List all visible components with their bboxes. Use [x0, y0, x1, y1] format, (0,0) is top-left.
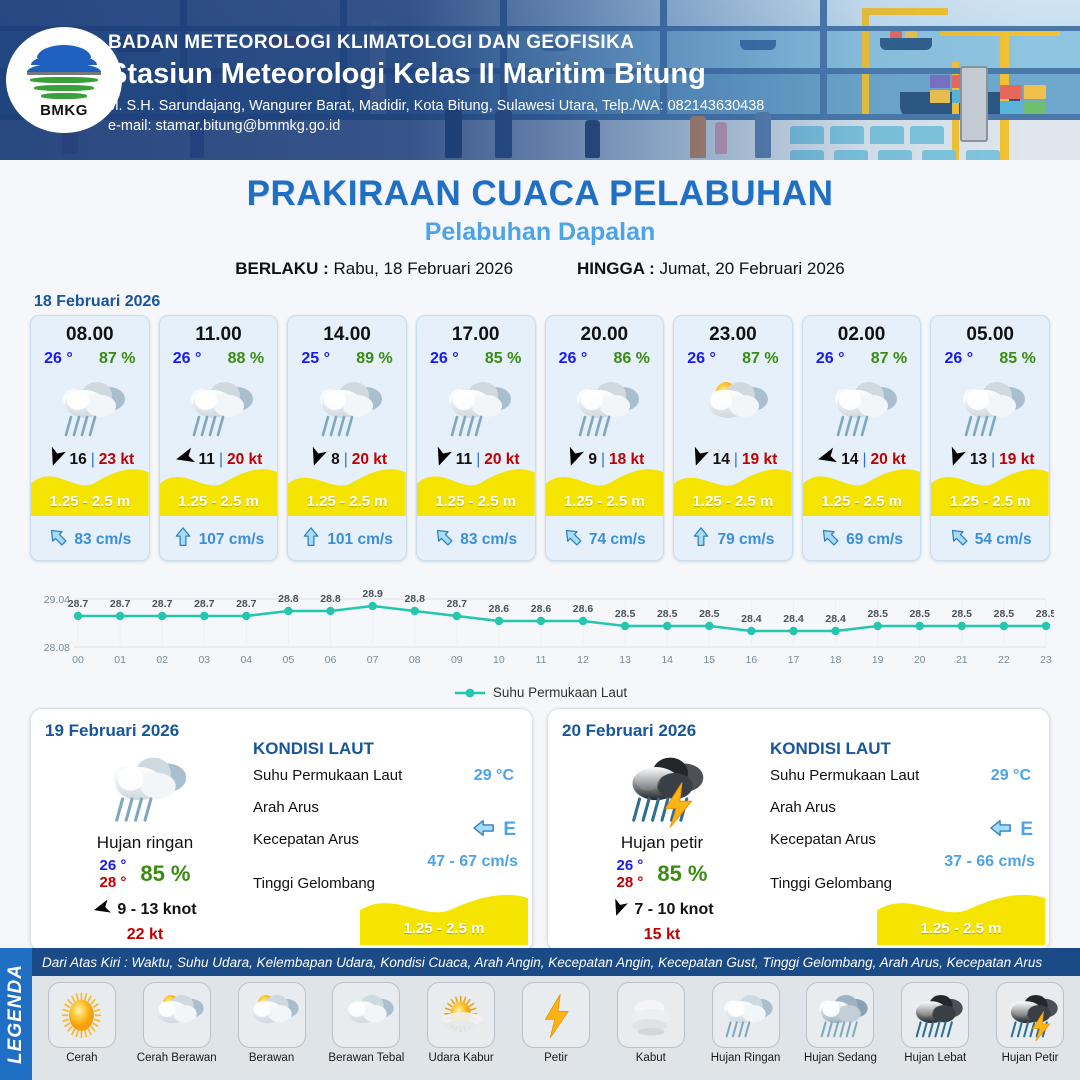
- valid-from-value: Rabu, 18 Februari 2026: [333, 259, 513, 278]
- legend-icon-cerah-berawan: [143, 982, 211, 1048]
- daily-wind-value: 7 - 10 knot: [634, 901, 713, 919]
- daily-temps: 26 ° 28 ° 85 %: [45, 857, 245, 892]
- current-speed-label: Kecepatan Arus: [770, 831, 876, 848]
- svg-text:03: 03: [198, 654, 210, 666]
- forecast-card: 11.00 26 ° 88 % 11 | 20 kt 1.25 - 2.5 m …: [159, 315, 279, 561]
- card-current-speed: 74 cm/s: [589, 531, 646, 549]
- forecast-card: 20.00 26 ° 86 % 9 | 18 kt 1.25 - 2.5 m 7…: [545, 315, 665, 561]
- daily-gust: 15 kt: [562, 926, 762, 944]
- svg-text:29.04: 29.04: [44, 594, 70, 606]
- card-time: 14.00: [323, 324, 371, 346]
- legend-item: Cerah Berawan: [131, 982, 223, 1078]
- svg-text:21: 21: [956, 654, 968, 666]
- sst-row: Suhu Permukaan Laut 29 °C: [770, 767, 1037, 799]
- hourly-forecast-cards: 08.00 26 ° 87 % 16 | 23 kt 1.25 - 2.5 m …: [0, 315, 1080, 561]
- svg-text:28.5: 28.5: [1036, 608, 1054, 620]
- svg-text:07: 07: [367, 654, 379, 666]
- card-values: 26 ° 85 %: [417, 350, 535, 368]
- bmkg-logo-text: BMKG: [40, 102, 88, 119]
- daily-condition: Hujan ringan: [45, 833, 245, 853]
- legend-section: LEGENDA Dari Atas Kiri : Waktu, Suhu Uda…: [0, 948, 1080, 1080]
- legend-item-label: Udara Kabur: [429, 1052, 494, 1064]
- card-temperature: 26 °: [945, 350, 974, 368]
- card-humidity: 88 %: [228, 350, 264, 368]
- station-name: Stasiun Meteorologi Kelas II Maritim Bit…: [108, 58, 764, 91]
- card-time: 23.00: [709, 324, 757, 346]
- card-weather-icon: [674, 371, 792, 445]
- svg-text:28.5: 28.5: [699, 608, 720, 620]
- current-speed-value: 37 - 66 cm/s: [944, 853, 1035, 871]
- legend-item-label: Kabut: [636, 1052, 666, 1064]
- card-humidity: 87 %: [99, 350, 135, 368]
- current-direction-arrow-icon: [48, 527, 68, 552]
- valid-to-label: HINGGA :: [577, 259, 655, 278]
- legend-item-label: Hujan Petir: [1002, 1052, 1059, 1064]
- card-temperature: 26 °: [816, 350, 845, 368]
- current-direction-arrow-icon: [691, 527, 711, 552]
- daily-date: 20 Februari 2026: [562, 721, 1035, 741]
- svg-text:04: 04: [240, 654, 252, 666]
- card-temperature: 26 °: [44, 350, 73, 368]
- card-weather-icon: [288, 371, 406, 445]
- legend-icon-hujan-petir: [996, 982, 1064, 1048]
- svg-text:28.6: 28.6: [489, 603, 510, 615]
- wave-height-label: Tinggi Gelombang: [253, 875, 375, 892]
- forecast-card: 02.00 26 ° 87 % 14 | 20 kt 1.25 - 2.5 m …: [802, 315, 922, 561]
- card-values: 26 ° 86 %: [546, 350, 664, 368]
- daily-temp-min: 26 °: [616, 857, 643, 874]
- current-direction-row: Arah Arus E: [253, 799, 520, 831]
- daily-wind: 9 - 13 knot: [45, 899, 245, 922]
- svg-text:02: 02: [156, 654, 168, 666]
- forecast-card: 08.00 26 ° 87 % 16 | 23 kt 1.25 - 2.5 m …: [30, 315, 150, 561]
- card-current-speed: 101 cm/s: [327, 531, 393, 549]
- svg-text:28.8: 28.8: [278, 593, 299, 605]
- svg-text:18: 18: [830, 654, 842, 666]
- legend-item-label: Berawan: [249, 1052, 294, 1064]
- card-wave-height: 1.25 - 2.5 m: [546, 493, 664, 510]
- sst-value: 29 °C: [991, 767, 1031, 785]
- chart-legend: Suhu Permukaan Laut: [0, 685, 1080, 700]
- card-current: 83 cm/s: [31, 527, 149, 552]
- card-weather-icon: [546, 371, 664, 445]
- agency-name: BADAN METEOROLOGI KLIMATOLOGI DAN GEOFIS…: [108, 32, 764, 54]
- legend-icon-hujan-sedang: [806, 982, 874, 1048]
- valid-from: BERLAKU : Rabu, 18 Februari 2026: [235, 259, 513, 279]
- svg-text:01: 01: [114, 654, 126, 666]
- daily-temp-range: 26 ° 28 °: [616, 857, 643, 892]
- svg-text:28.5: 28.5: [657, 608, 678, 620]
- svg-text:28.4: 28.4: [783, 613, 804, 625]
- card-temperature: 26 °: [687, 350, 716, 368]
- card-wave-height: 1.25 - 2.5 m: [417, 493, 535, 510]
- card-wave-height: 1.25 - 2.5 m: [31, 493, 149, 510]
- card-weather-icon: [803, 371, 921, 445]
- daily-humidity: 85 %: [657, 861, 707, 887]
- daily-wind-value: 9 - 13 knot: [117, 901, 196, 919]
- legend-item: Hujan Lebat: [889, 982, 981, 1078]
- current-direction-arrow-icon: [949, 527, 969, 552]
- card-humidity: 87 %: [742, 350, 778, 368]
- legend-item-label: Cerah Berawan: [137, 1052, 217, 1064]
- daily-humidity: 85 %: [140, 861, 190, 887]
- card-temperature: 25 °: [301, 350, 330, 368]
- legend-item-label: Hujan Lebat: [904, 1052, 966, 1064]
- card-current: 79 cm/s: [674, 527, 792, 552]
- card-humidity: 89 %: [356, 350, 392, 368]
- daily-temp-range: 26 ° 28 °: [99, 857, 126, 892]
- svg-text:05: 05: [283, 654, 295, 666]
- svg-text:28.8: 28.8: [404, 593, 425, 605]
- card-wave-height: 1.25 - 2.5 m: [931, 493, 1049, 510]
- card-time: 02.00: [838, 324, 886, 346]
- svg-text:28.5: 28.5: [615, 608, 636, 620]
- svg-text:28.5: 28.5: [867, 608, 888, 620]
- card-values: 26 ° 87 %: [674, 350, 792, 368]
- forecast-card: 05.00 26 ° 85 % 13 | 19 kt 1.25 - 2.5 m …: [930, 315, 1050, 561]
- daily-gust: 22 kt: [45, 926, 245, 944]
- card-wave-height: 1.25 - 2.5 m: [160, 493, 278, 510]
- legend-item-label: Cerah: [66, 1052, 97, 1064]
- card-current-speed: 69 cm/s: [846, 531, 903, 549]
- daily-forecast-panels: 19 Februari 2026 Hujan ringan 26 ° 28 ° …: [0, 700, 1080, 952]
- chart-legend-marker-icon: [453, 687, 487, 699]
- card-current-speed: 54 cm/s: [975, 531, 1032, 549]
- legend-icon-berawan-tebal: [332, 982, 400, 1048]
- current-direction-arrow-icon: [820, 527, 840, 552]
- daily-sea-conditions: KONDISI LAUT Suhu Permukaan Laut 29 °C A…: [770, 739, 1037, 907]
- card-values: 26 ° 87 %: [31, 350, 149, 368]
- page-title-block: PRAKIRAAN CUACA PELABUHAN Pelabuhan Dapa…: [0, 174, 1080, 279]
- card-time: 08.00: [66, 324, 114, 346]
- card-weather-icon: [417, 371, 535, 445]
- page-subtitle: Pelabuhan Dapalan: [0, 218, 1080, 247]
- current-direction-row: Arah Arus E: [770, 799, 1037, 831]
- card-values: 26 ° 85 %: [931, 350, 1049, 368]
- card-values: 26 ° 87 %: [803, 350, 921, 368]
- svg-text:28.4: 28.4: [741, 613, 762, 625]
- svg-text:20: 20: [914, 654, 926, 666]
- forecast-card: 14.00 25 ° 89 % 8 | 20 kt 1.25 - 2.5 m 1…: [287, 315, 407, 561]
- sea-conditions-title: KONDISI LAUT: [253, 739, 520, 759]
- svg-text:28.7: 28.7: [152, 598, 173, 610]
- card-weather-icon: [931, 371, 1049, 445]
- valid-to: HINGGA : Jumat, 20 Februari 2026: [577, 259, 845, 279]
- daily-wind-arrow-icon: [610, 899, 628, 922]
- legend-item-label: Hujan Ringan: [711, 1052, 781, 1064]
- legend-item: Berawan Tebal: [320, 982, 412, 1078]
- current-direction-arrow-icon: [173, 527, 193, 552]
- svg-text:06: 06: [325, 654, 337, 666]
- card-temperature: 26 °: [559, 350, 588, 368]
- card-current: 101 cm/s: [288, 527, 406, 552]
- current-direction-label: Arah Arus: [253, 799, 319, 816]
- card-temperature: 26 °: [173, 350, 202, 368]
- sst-value: 29 °C: [474, 767, 514, 785]
- daily-left: Hujan ringan 26 ° 28 ° 85 % 9 - 13 knot …: [45, 745, 245, 944]
- svg-text:15: 15: [703, 654, 715, 666]
- daily-weather-icon: [562, 745, 762, 831]
- daily-condition: Hujan petir: [562, 833, 762, 853]
- legend-item: Udara Kabur: [415, 982, 507, 1078]
- card-time: 17.00: [452, 324, 500, 346]
- station-email: e-mail: stamar.bitung@bmmkg.go.id: [108, 118, 764, 134]
- legend-item-label: Berawan Tebal: [328, 1052, 404, 1064]
- daily-temp-max: 28 °: [99, 874, 126, 891]
- svg-text:28.5: 28.5: [909, 608, 930, 620]
- svg-text:28.5: 28.5: [994, 608, 1015, 620]
- legend-items: Cerah Cerah Berawan Berawan Berawan Teba…: [32, 976, 1080, 1080]
- card-current: 83 cm/s: [417, 527, 535, 552]
- current-direction-arrow-icon: [563, 527, 583, 552]
- daily-date: 19 Februari 2026: [45, 721, 518, 741]
- legend-icon-kabut: [617, 982, 685, 1048]
- sst-row: Suhu Permukaan Laut 29 °C: [253, 767, 520, 799]
- valid-to-value: Jumat, 20 Februari 2026: [660, 259, 845, 278]
- svg-text:28.7: 28.7: [194, 598, 215, 610]
- svg-text:28.4: 28.4: [825, 613, 846, 625]
- legend-icon-hujan-lebat: [901, 982, 969, 1048]
- svg-text:19: 19: [872, 654, 884, 666]
- forecast-date-label: 18 Februari 2026: [34, 293, 1080, 311]
- svg-text:28.5: 28.5: [952, 608, 973, 620]
- legend-icon-udara-kabur: [427, 982, 495, 1048]
- legend-icon-cerah: [48, 982, 116, 1048]
- page-header: BMKG BADAN METEOROLOGI KLIMATOLOGI DAN G…: [0, 0, 1080, 160]
- daily-forecast-panel: 20 Februari 2026 Hujan petir 26 ° 28 ° 8…: [547, 708, 1050, 952]
- valid-from-label: BERLAKU :: [235, 259, 329, 278]
- legend-item-label: Hujan Sedang: [804, 1052, 877, 1064]
- svg-text:10: 10: [493, 654, 505, 666]
- card-wave-height: 1.25 - 2.5 m: [288, 493, 406, 510]
- svg-text:23: 23: [1040, 654, 1052, 666]
- svg-text:28.6: 28.6: [531, 603, 552, 615]
- svg-text:28.7: 28.7: [447, 598, 468, 610]
- card-values: 26 ° 88 %: [160, 350, 278, 368]
- card-weather-icon: [160, 371, 278, 445]
- legend-icon-petir: [522, 982, 590, 1048]
- svg-text:28.7: 28.7: [236, 598, 257, 610]
- current-speed-row: Kecepatan Arus 37 - 66 cm/s: [770, 831, 1037, 875]
- sst-label: Suhu Permukaan Laut: [253, 767, 402, 784]
- svg-text:14: 14: [661, 654, 673, 666]
- svg-text:16: 16: [746, 654, 758, 666]
- bmkg-logo: BMKG: [6, 27, 122, 133]
- bmkg-emblem-icon: [27, 41, 101, 101]
- page-title: PRAKIRAAN CUACA PELABUHAN: [0, 174, 1080, 214]
- card-humidity: 87 %: [871, 350, 907, 368]
- legend-item: Hujan Sedang: [795, 982, 887, 1078]
- daily-temp-min: 26 °: [99, 857, 126, 874]
- card-current: 74 cm/s: [546, 527, 664, 552]
- current-speed-row: Kecepatan Arus 47 - 67 cm/s: [253, 831, 520, 875]
- daily-wind-arrow-icon: [93, 899, 111, 922]
- daily-wave-value: 1.25 - 2.5 m: [877, 920, 1045, 937]
- card-current: 54 cm/s: [931, 527, 1049, 552]
- sea-conditions-title: KONDISI LAUT: [770, 739, 1037, 759]
- chart-legend-label: Suhu Permukaan Laut: [493, 685, 627, 700]
- legend-item-label: Petir: [544, 1052, 568, 1064]
- card-weather-icon: [31, 371, 149, 445]
- svg-text:09: 09: [451, 654, 463, 666]
- card-current-speed: 79 cm/s: [717, 531, 774, 549]
- legend-icon-hujan-ringan: [712, 982, 780, 1048]
- current-speed-value: 47 - 67 cm/s: [427, 853, 518, 871]
- daily-wind: 7 - 10 knot: [562, 899, 762, 922]
- forecast-card: 17.00 26 ° 85 % 11 | 20 kt 1.25 - 2.5 m …: [416, 315, 536, 561]
- daily-sea-conditions: KONDISI LAUT Suhu Permukaan Laut 29 °C A…: [253, 739, 520, 907]
- current-speed-label: Kecepatan Arus: [253, 831, 359, 848]
- daily-wave-value: 1.25 - 2.5 m: [360, 920, 528, 937]
- card-time: 11.00: [195, 324, 242, 346]
- daily-left: Hujan petir 26 ° 28 ° 85 % 7 - 10 knot 1…: [562, 745, 762, 944]
- legend-side-label: LEGENDA: [0, 948, 32, 1080]
- legend-item: Petir: [510, 982, 602, 1078]
- daily-temps: 26 ° 28 ° 85 %: [562, 857, 762, 892]
- card-values: 25 ° 89 %: [288, 350, 406, 368]
- forecast-card: 23.00 26 ° 87 % 14 | 19 kt 1.25 - 2.5 m …: [673, 315, 793, 561]
- svg-text:00: 00: [72, 654, 84, 666]
- card-time: 20.00: [581, 324, 629, 346]
- card-current-speed: 107 cm/s: [199, 531, 265, 549]
- legend-item: Berawan: [226, 982, 318, 1078]
- legend-icon-berawan: [238, 982, 306, 1048]
- card-humidity: 85 %: [999, 350, 1035, 368]
- card-current: 69 cm/s: [803, 527, 921, 552]
- svg-text:11: 11: [536, 654, 547, 666]
- legend-item: Hujan Ringan: [700, 982, 792, 1078]
- svg-text:12: 12: [577, 654, 589, 666]
- current-direction-label: Arah Arus: [770, 799, 836, 816]
- daily-forecast-panel: 19 Februari 2026 Hujan ringan 26 ° 28 ° …: [30, 708, 533, 952]
- svg-text:17: 17: [788, 654, 800, 666]
- sst-label: Suhu Permukaan Laut: [770, 767, 919, 784]
- current-direction-arrow-icon: [301, 527, 321, 552]
- validity-row: BERLAKU : Rabu, 18 Februari 2026 HINGGA …: [0, 259, 1080, 279]
- card-humidity: 86 %: [614, 350, 650, 368]
- svg-text:08: 08: [409, 654, 421, 666]
- card-time: 05.00: [966, 324, 1014, 346]
- card-current-speed: 83 cm/s: [460, 531, 517, 549]
- svg-text:28.9: 28.9: [362, 588, 383, 600]
- daily-weather-icon: [45, 745, 245, 831]
- legend-item: Hujan Petir: [984, 982, 1076, 1078]
- svg-text:13: 13: [619, 654, 631, 666]
- card-wave-height: 1.25 - 2.5 m: [674, 493, 792, 510]
- legend-item: Cerah: [36, 982, 128, 1078]
- svg-text:28.7: 28.7: [110, 598, 131, 610]
- card-current: 107 cm/s: [160, 527, 278, 552]
- legend-note: Dari Atas Kiri : Waktu, Suhu Udara, Kele…: [32, 948, 1080, 976]
- daily-temp-max: 28 °: [616, 874, 643, 891]
- wave-height-label: Tinggi Gelombang: [770, 875, 892, 892]
- card-wave-height: 1.25 - 2.5 m: [803, 493, 921, 510]
- svg-text:28.8: 28.8: [320, 593, 341, 605]
- svg-text:28.6: 28.6: [573, 603, 594, 615]
- station-address: Jl. S.H. Sarundajang, Wangurer Barat, Ma…: [108, 98, 764, 114]
- legend-item: Kabut: [605, 982, 697, 1078]
- svg-text:22: 22: [998, 654, 1010, 666]
- svg-text:28.08: 28.08: [44, 642, 70, 654]
- current-direction-arrow-icon: [434, 527, 454, 552]
- card-current-speed: 83 cm/s: [74, 531, 131, 549]
- sst-chart: 29.0428.0828.70028.70128.70228.70328.704…: [26, 573, 1054, 683]
- svg-text:28.7: 28.7: [68, 598, 89, 610]
- card-temperature: 26 °: [430, 350, 459, 368]
- card-humidity: 85 %: [485, 350, 521, 368]
